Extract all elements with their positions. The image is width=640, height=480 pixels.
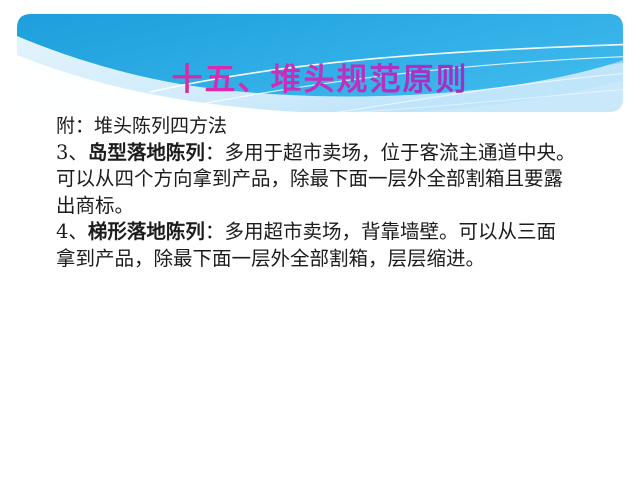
body-line-item3-second: 可以从四个方向拿到产品，除最下面一层外全部割箱且要露 bbox=[56, 166, 628, 193]
item4-rest: ：多用超市卖场，背靠墙壁。可以从三面 bbox=[205, 220, 556, 243]
item4-number: 4、 bbox=[56, 220, 88, 243]
body-line-attachment: 附：堆头陈列四方法 bbox=[56, 113, 628, 140]
slide-body: 附：堆头陈列四方法 3、岛型落地陈列：多用于超市卖场，位于客流主通道中央。 可以… bbox=[56, 113, 628, 273]
item3-number: 3、 bbox=[56, 141, 88, 164]
item4-term: 梯形落地陈列 bbox=[88, 220, 205, 243]
blue-wave-banner bbox=[0, 0, 640, 118]
page-title: 十五、堆头规范原则 bbox=[0, 60, 640, 100]
body-line-item3-third: 出商标。 bbox=[56, 193, 628, 220]
body-line-item3-first: 3、岛型落地陈列：多用于超市卖场，位于客流主通道中央。 bbox=[56, 140, 628, 167]
body-line-item4-second: 拿到产品，除最下面一层外全部割箱，层层缩进。 bbox=[56, 246, 628, 273]
item3-term: 岛型落地陈列 bbox=[88, 141, 205, 164]
item3-rest: ：多用于超市卖场，位于客流主通道中央。 bbox=[205, 141, 576, 164]
presentation-slide: 十五、堆头规范原则 附：堆头陈列四方法 3、岛型落地陈列：多用于超市卖场，位于客… bbox=[0, 0, 640, 480]
body-line-item4-first: 4、梯形落地陈列：多用超市卖场，背靠墙壁。可以从三面 bbox=[56, 219, 628, 246]
